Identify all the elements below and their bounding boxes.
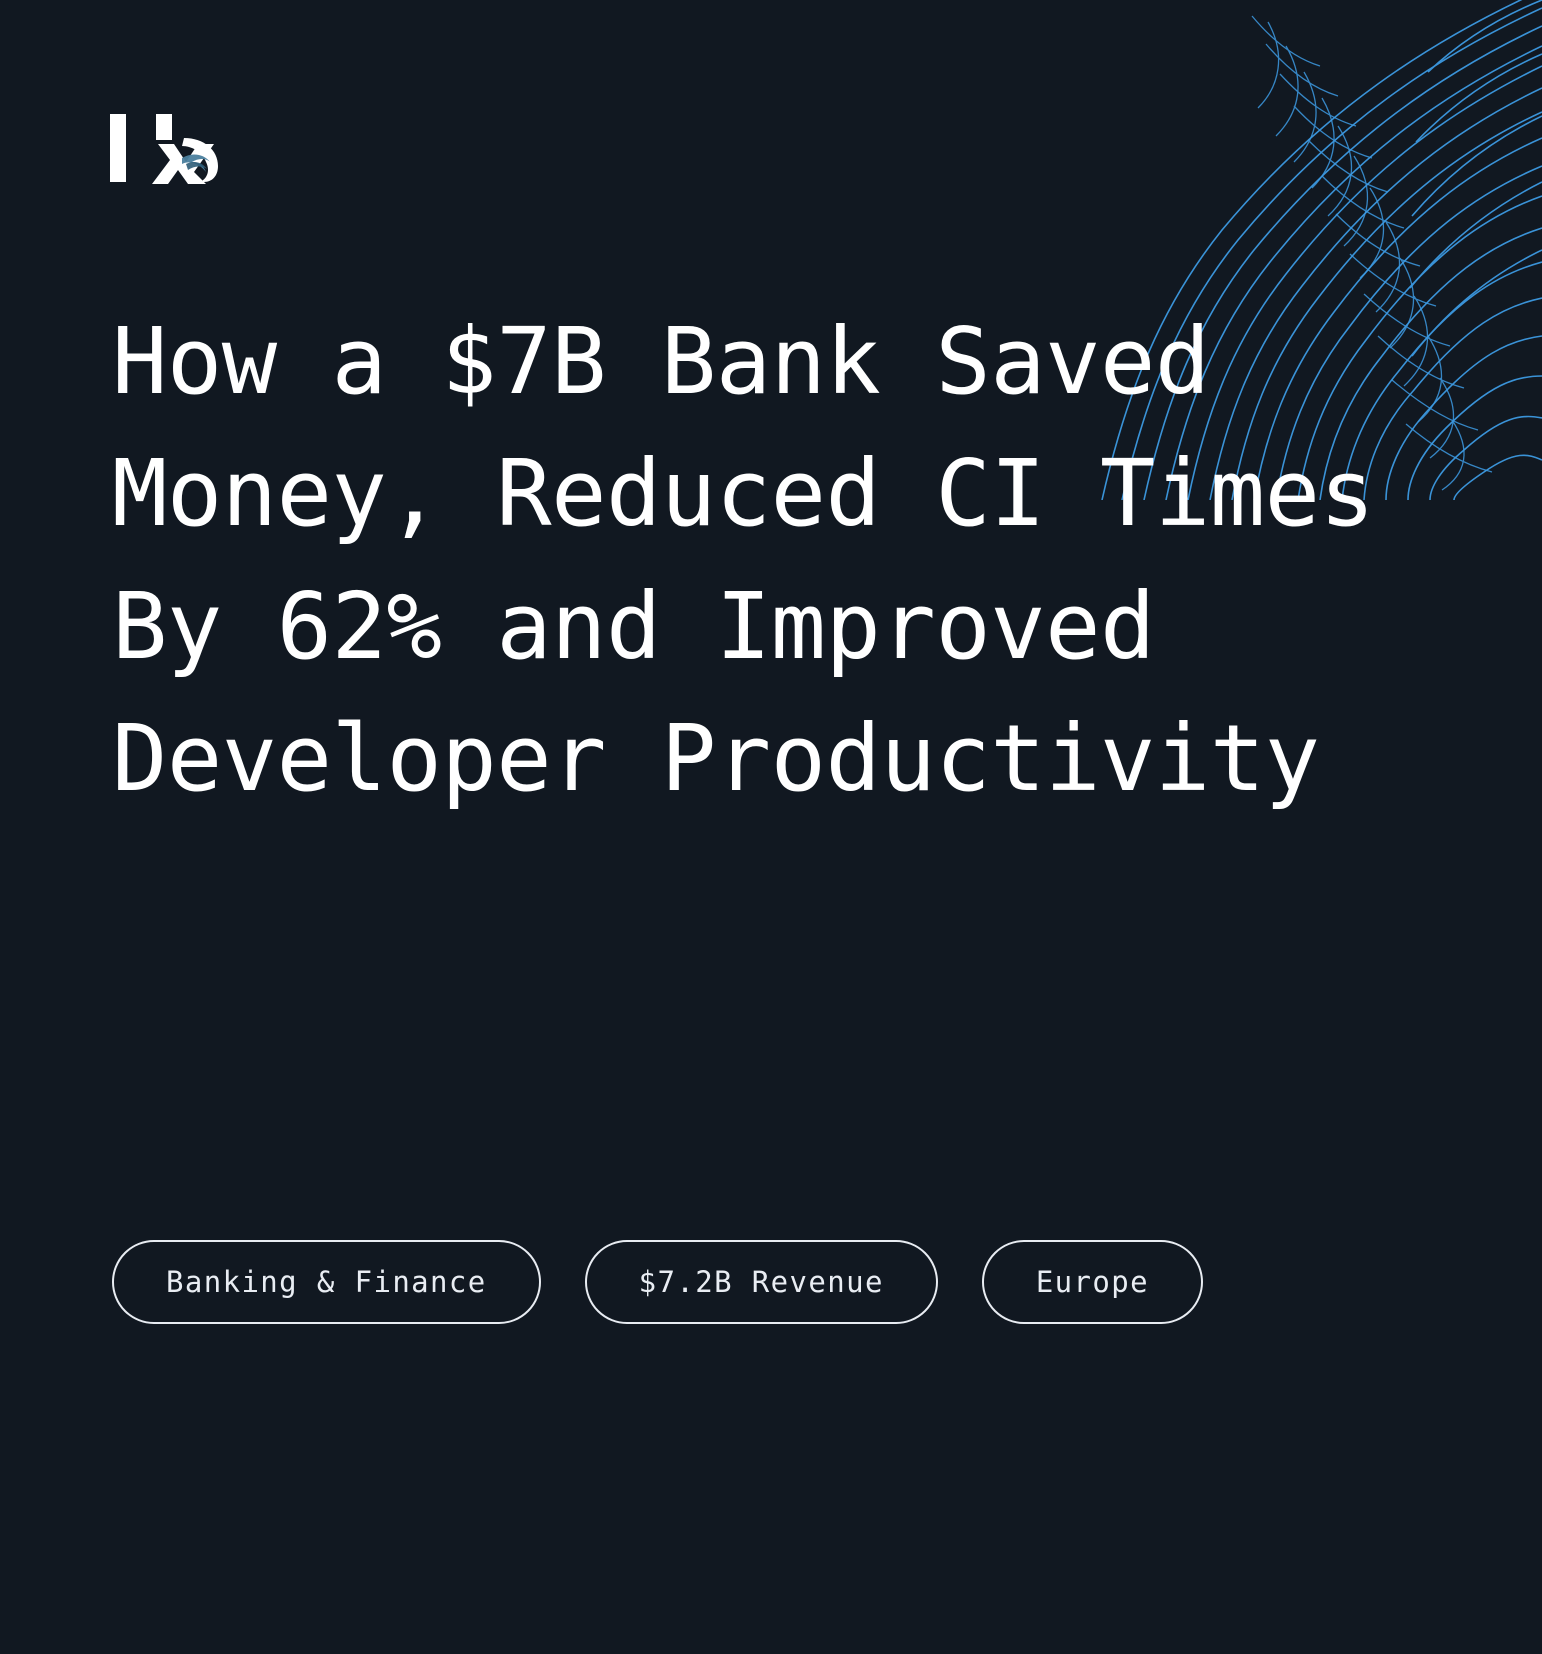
tag-region-label: Europe xyxy=(1036,1265,1149,1299)
tag-revenue[interactable]: $7.2B Revenue xyxy=(585,1240,938,1324)
tag-region[interactable]: Europe xyxy=(982,1240,1203,1324)
tag-list: Banking & Finance $7.2B Revenue Europe xyxy=(112,1240,1203,1324)
tag-industry[interactable]: Banking & Finance xyxy=(112,1240,541,1324)
tag-industry-label: Banking & Finance xyxy=(166,1265,487,1299)
page-title: How a $7B Bank Saved Money, Reduced CI T… xyxy=(112,296,1442,826)
nx-logo[interactable] xyxy=(108,112,226,184)
tag-revenue-label: $7.2B Revenue xyxy=(639,1265,884,1299)
nx-logo-icon xyxy=(108,112,226,184)
